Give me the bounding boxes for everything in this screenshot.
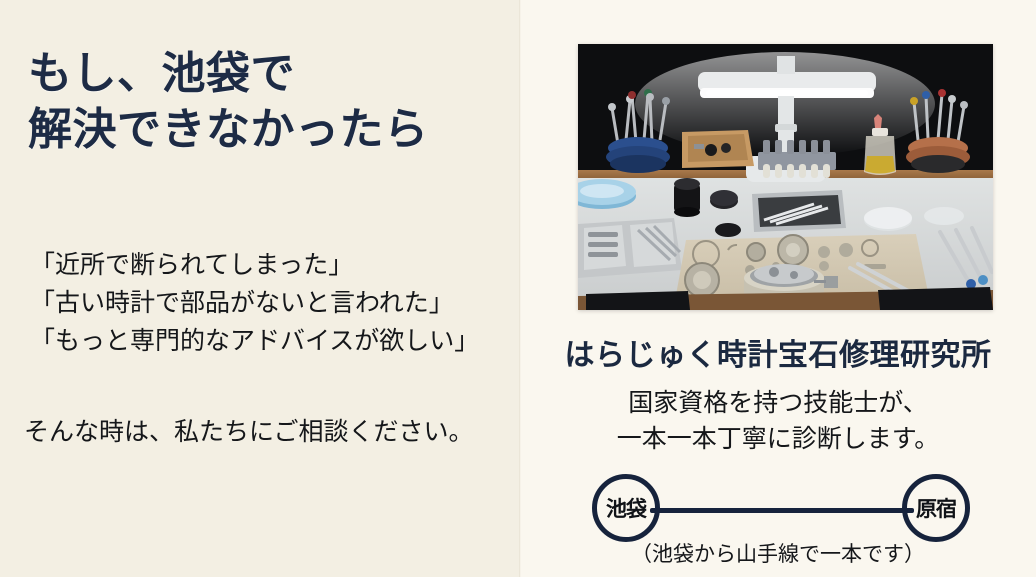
tagline-line-2: 一本一本丁寧に診断します。 — [520, 422, 1036, 458]
station-origin: 池袋 — [592, 474, 660, 542]
brand-tagline: 国家資格を持つ技能士が、 一本一本丁寧に診断します。 — [520, 386, 1036, 457]
page-title: もし、池袋で 解決できなかったら — [28, 46, 498, 159]
brand-name: はらじゅく時計宝石修理研究所 — [520, 330, 1036, 374]
watchmaker-bench-photo — [578, 44, 993, 310]
route-diagram: 池袋 原宿 — [520, 474, 1036, 546]
headline-line-1: もし、池袋で — [28, 46, 498, 102]
customer-quotes-list: 「近所で断られてしまった」 「古い時計で部品がないと言われた」 「もっと専門的な… — [30, 246, 520, 360]
headline-line-2: 解決できなかったら — [28, 102, 498, 158]
route-line — [650, 508, 914, 513]
station-destination: 原宿 — [902, 474, 970, 542]
list-item: 「もっと専門的なアドバイスが欲しい」 — [30, 322, 520, 360]
slide-root: もし、池袋で 解決できなかったら 「近所で断られてしまった」 「古い時計で部品が… — [0, 0, 1036, 577]
tagline-line-1: 国家資格を持つ技能士が、 — [520, 386, 1036, 422]
route-note: （池袋から山手線で一本です） — [520, 538, 1036, 568]
list-item: 「近所で断られてしまった」 — [30, 246, 520, 284]
closing-message: そんな時は、私たちにご相談ください。 — [24, 412, 524, 448]
list-item: 「古い時計で部品がないと言われた」 — [30, 284, 520, 322]
